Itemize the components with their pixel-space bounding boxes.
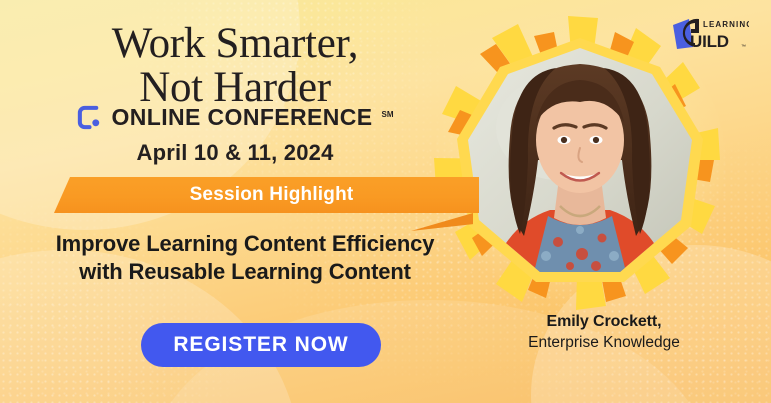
- service-mark: SM: [382, 110, 394, 119]
- promo-banner: Work Smarter, Not Harder ONLINE CONFEREN…: [0, 0, 771, 403]
- sunburst-portrait-group: [430, 10, 730, 320]
- online-conference-lockup: ONLINE CONFERENCE SM: [0, 104, 470, 131]
- ribbon-label: Session Highlight: [54, 177, 479, 213]
- speaker-credit: Emily Crockett, Enterprise Knowledge: [470, 313, 738, 352]
- event-dates: April 10 & 11, 2024: [0, 140, 470, 166]
- register-now-button[interactable]: REGISTER NOW: [141, 323, 381, 367]
- session-title-line-2: with Reusable Learning Content: [79, 259, 411, 284]
- online-conference-bracket-icon: [76, 104, 103, 131]
- page-title: Work Smarter, Not Harder: [0, 22, 470, 110]
- learning-guild-logo[interactable]: LEARNING UILD ™: [669, 13, 749, 53]
- speaker-organization: Enterprise Knowledge: [470, 334, 738, 352]
- session-highlight-ribbon: Session Highlight: [54, 177, 479, 213]
- svg-text:UILD: UILD: [690, 32, 729, 51]
- session-title-line-1: Improve Learning Content Efficiency: [56, 231, 435, 256]
- svg-text:LEARNING: LEARNING: [703, 20, 749, 29]
- session-title: Improve Learning Content Efficiency with…: [20, 230, 470, 285]
- online-conference-wordmark: ONLINE CONFERENCE: [111, 104, 372, 131]
- speaker-name: Emily Crockett,: [470, 313, 738, 331]
- svg-text:™: ™: [741, 44, 746, 50]
- headline-line-1: Work Smarter,: [112, 20, 358, 67]
